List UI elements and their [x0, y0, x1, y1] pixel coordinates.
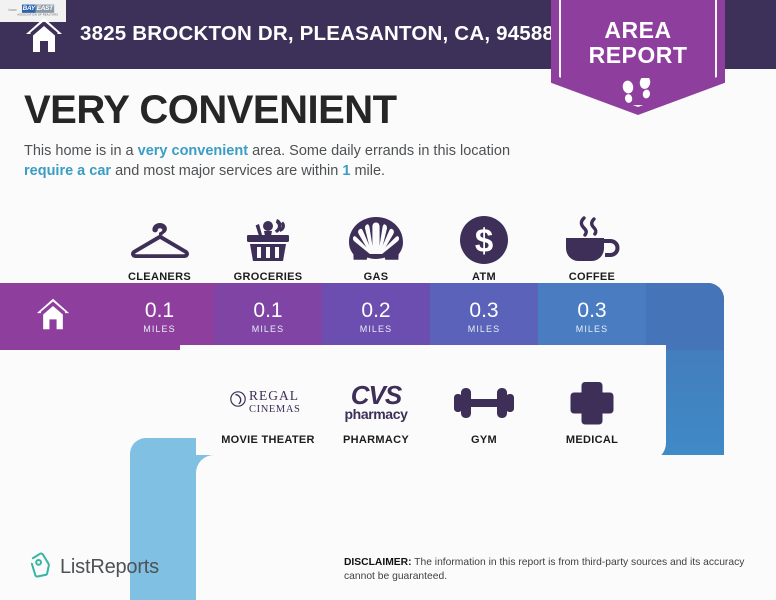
property-address: 3825 BROCKTON DR, PLEASANTON, CA, 94588 — [80, 22, 554, 46]
amenity-gym: GYM — [430, 370, 538, 446]
listreports-house-icon — [28, 552, 53, 583]
page-subtitle: This home is in a very convenient area. … — [24, 141, 554, 181]
distance-value: 0.1 — [145, 300, 174, 322]
amenity-coffee: COFFEE — [538, 205, 646, 283]
amenity-label: GROCERIES — [234, 271, 303, 283]
cvs-pharmacy-logo: CVS pharmacy — [339, 379, 413, 427]
distance-cell: 0.3 MILES — [430, 283, 538, 350]
amenity-label: MEDICAL — [566, 434, 618, 446]
distance-cell: 0.1 MILES — [214, 283, 322, 350]
amenity-movie-theater: REGAL CINEMAS MOVIE THEATER — [214, 370, 322, 446]
distance-unit: MILES — [143, 324, 176, 334]
distance-cell: 0.2 MILES — [322, 283, 430, 350]
listreports-brand: ListReports — [28, 552, 159, 583]
area-report-page: ©2023 BAYEAST ASSOCIATION OF REALTORS 38… — [0, 0, 776, 600]
footprints-icon — [551, 78, 725, 113]
subtitle-part-4: mile. — [350, 163, 385, 179]
amenity-groceries: GROCERIES — [214, 205, 322, 283]
shopping-basket-icon — [239, 216, 297, 264]
home-icon — [24, 16, 64, 54]
band-elbow-top — [646, 283, 724, 350]
dollar-circle-icon: $ — [459, 216, 509, 264]
subtitle-highlight-1: very convenient — [138, 143, 248, 159]
disclaimer: DISCLAIMER: The information in this repo… — [344, 556, 768, 584]
disclaimer-label: DISCLAIMER: — [344, 557, 412, 568]
amenity-label: CLEANERS — [128, 271, 191, 283]
listreports-wordmark: ListReports — [60, 556, 159, 579]
distance-unit: MILES — [252, 324, 285, 334]
shell-gas-icon — [348, 216, 404, 264]
distance-cell: 0.3 MILES — [538, 283, 646, 350]
amenity-label: ATM — [472, 271, 496, 283]
clothes-hanger-icon — [131, 216, 189, 264]
svg-text:REGAL: REGAL — [249, 388, 299, 403]
distance-value: 0.3 — [577, 300, 606, 322]
distance-unit: MILES — [576, 324, 609, 334]
amenity-icons-row-2: REGAL CINEMAS MOVIE THEATER CVS pharmacy… — [214, 370, 670, 446]
svg-text:CINEMAS: CINEMAS — [249, 404, 300, 415]
subtitle-part-3: and most major services are within — [111, 163, 342, 179]
home-origin-cell — [0, 283, 105, 350]
amenity-pharmacy: CVS pharmacy PHARMACY — [322, 370, 430, 446]
logo-copyright: ©2023 — [8, 10, 16, 13]
distance-band-row-1: 0.1 MILES 0.1 MILES 0.2 MILES 0.3 MILES … — [0, 283, 724, 350]
amenity-label: GAS — [364, 271, 389, 283]
amenity-atm: $ ATM — [430, 205, 538, 283]
medical-cross-icon — [569, 379, 615, 427]
amenity-medical: MEDICAL — [538, 370, 646, 446]
distance-value: 0.2 — [361, 300, 390, 322]
svg-text:pharmacy: pharmacy — [345, 406, 409, 422]
subtitle-highlight-2: require a car — [24, 163, 111, 179]
distance-cell: 0.1 MILES — [105, 283, 214, 350]
distance-unit: MILES — [360, 324, 393, 334]
subtitle-part-1: This home is in a — [24, 143, 138, 159]
logo-east-text: EAST — [36, 5, 54, 13]
amenity-cleaners: CLEANERS — [105, 205, 214, 283]
amenity-icons-row-1: CLEANERS GROCERIES — [105, 205, 724, 283]
distance-unit: MILES — [468, 324, 501, 334]
logo-bay-text: BAY — [22, 5, 36, 13]
amenity-label: PHARMACY — [343, 434, 409, 446]
distance-value: 0.1 — [253, 300, 282, 322]
amenity-label: GYM — [471, 434, 497, 446]
coffee-cup-icon — [563, 216, 621, 264]
regal-cinemas-logo: REGAL CINEMAS — [225, 379, 311, 427]
badge-title: AREA REPORT — [551, 18, 725, 68]
home-icon — [34, 297, 72, 336]
amenity-label: COFFEE — [569, 271, 615, 283]
subtitle-part-2: area. Some daily errands in this locatio… — [248, 143, 510, 159]
badge-line-1: AREA — [551, 18, 725, 43]
dumbbell-icon — [453, 379, 515, 427]
badge-line-2: REPORT — [551, 43, 725, 68]
amenity-gas: GAS — [322, 205, 430, 283]
distance-value: 0.3 — [469, 300, 498, 322]
svg-text:$: $ — [475, 222, 493, 259]
amenity-label: MOVIE THEATER — [221, 434, 315, 446]
page-title: VERY CONVENIENT — [24, 88, 397, 133]
